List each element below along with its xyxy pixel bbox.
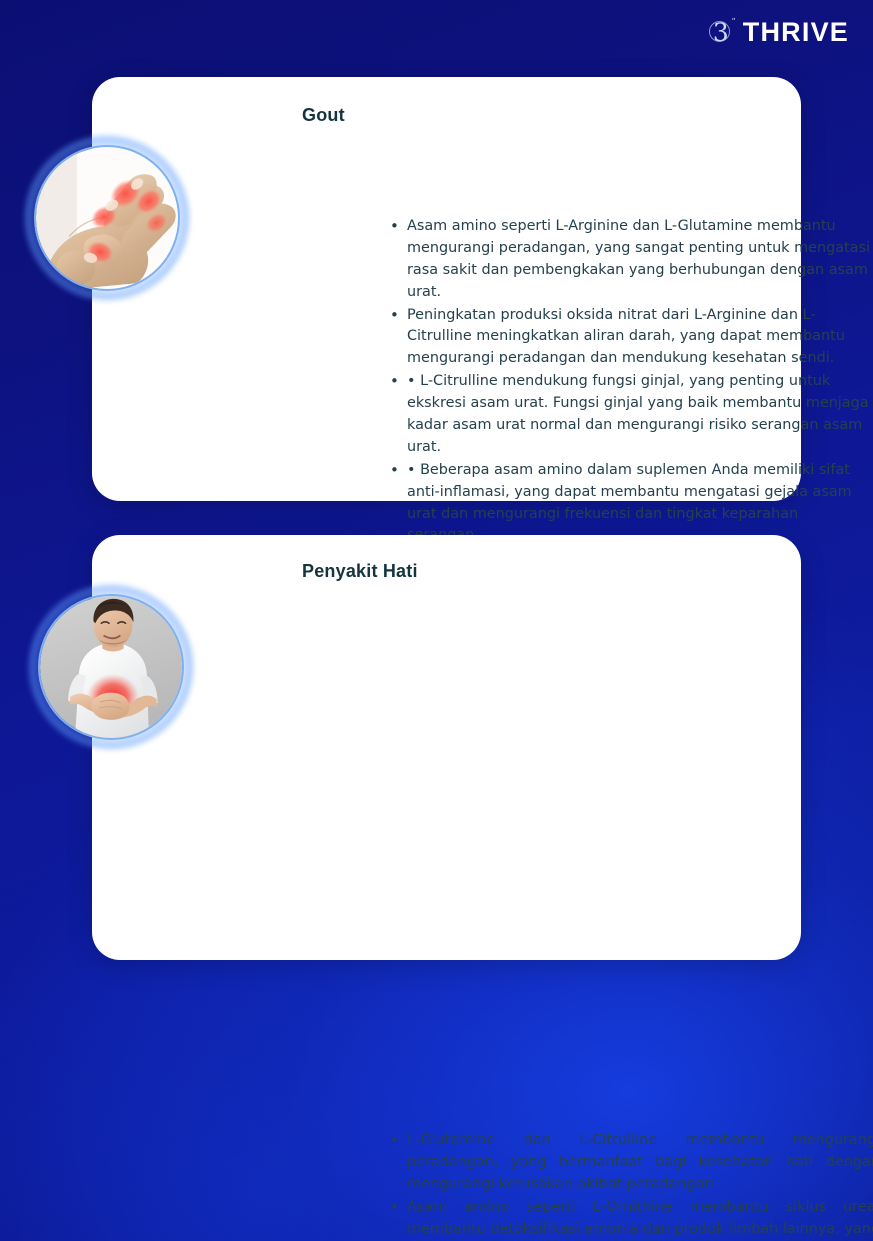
thrive-logo-icon: 3 ʺ xyxy=(708,17,734,47)
card-title-gout: Gout xyxy=(302,105,345,126)
list-item: Peningkatan produksi oksida nitrat dari … xyxy=(388,305,873,371)
card-title-liver: Penyakit Hati xyxy=(302,561,418,582)
slide-page: 3 ʺ THRIVE Gout Asam amino seperti L-Arg… xyxy=(0,0,873,1241)
bullet-list-gout: Asam amino seperti L-Arginine dan L-Glut… xyxy=(388,216,873,548)
content-card-gout: Gout Asam amino seperti L-Arginine dan L… xyxy=(92,77,801,501)
logo-tick-icon: ʺ xyxy=(732,19,735,28)
brand-logo: 3 ʺ THRIVE xyxy=(708,14,849,50)
list-item: Asam amino seperti L-Arginine dan L-Glut… xyxy=(388,216,873,304)
abdominal-pain-photo xyxy=(38,594,184,740)
brand-wordmark: THRIVE xyxy=(743,17,849,48)
list-item: L-Glutamine dan L-Citrulline membantu me… xyxy=(388,1130,873,1196)
list-item: Asam amino seperti L-Ornithine membantu … xyxy=(388,1197,873,1241)
logo-ring-icon xyxy=(709,21,730,42)
gout-hands-photo xyxy=(34,145,180,291)
photo-frame xyxy=(34,145,180,291)
list-item: • L-Citrulline mendukung fungsi ginjal, … xyxy=(388,371,873,459)
photo-frame xyxy=(38,594,184,740)
bullet-list-liver: L-Glutamine dan L-Citrulline membantu me… xyxy=(388,1130,873,1241)
content-card-liver: Penyakit Hati L-Glutamine dan L-Citrulli… xyxy=(92,535,801,960)
